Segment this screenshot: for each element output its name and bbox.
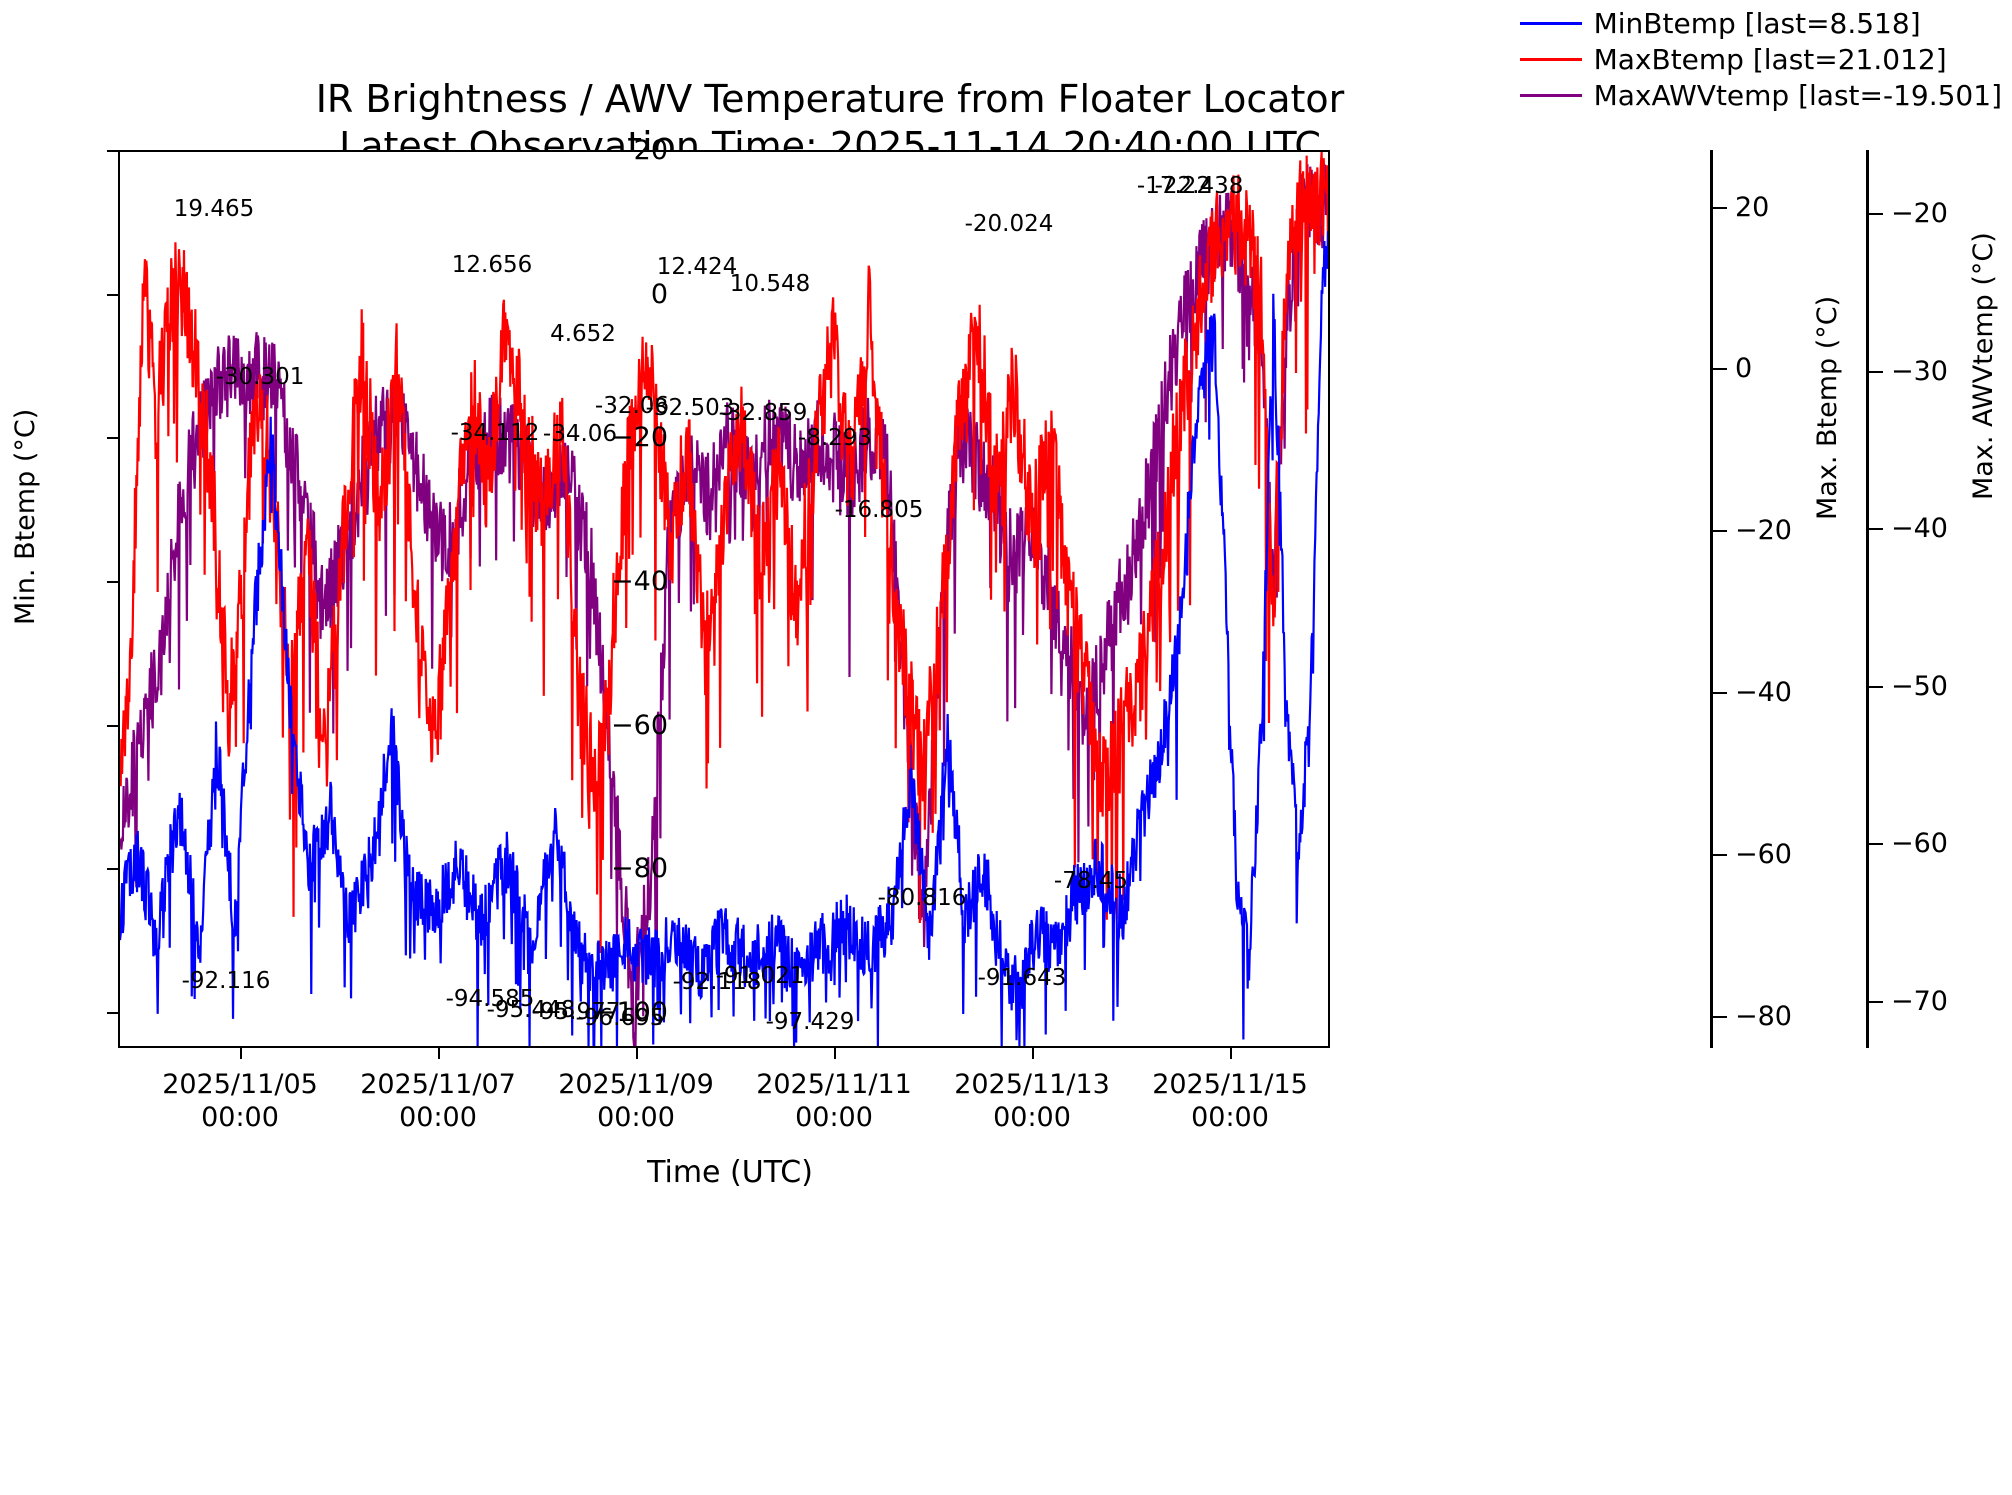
- y-axis-left-tick-mark: [107, 581, 118, 583]
- y-axis-left-tick-label: −80: [548, 853, 668, 884]
- x-axis-tick-label: 2025/11/1500:00: [1120, 1068, 1340, 1134]
- x-tick-date: 2025/11/07: [360, 1069, 516, 1100]
- data-point-annotation: -8.293: [798, 425, 872, 451]
- data-point-annotation: -32.859: [719, 400, 808, 426]
- y-axis-right-btemp-tick-label: −60: [1735, 839, 1792, 870]
- y-axis-right-awvtemp-tick-label: −60: [1891, 828, 1948, 859]
- y-axis-left-tick-label: −60: [548, 710, 668, 741]
- y-axis-left-tick-label: −40: [548, 566, 668, 597]
- x-tick-time: 00:00: [1191, 1102, 1269, 1133]
- y-axis-right-awvtemp-tick-mark: [1869, 528, 1883, 530]
- legend-label-maxbtemp: MaxBtemp [last=21.012]: [1594, 43, 1947, 76]
- y-axis-right-btemp-tick-mark: [1713, 368, 1727, 370]
- x-tick-time: 00:00: [399, 1102, 477, 1133]
- x-axis-tick-mark: [834, 1048, 836, 1059]
- y-axis-right-btemp-label: Max. Btemp (°C): [1812, 296, 1843, 520]
- y-axis-right-awvtemp-tick-mark: [1869, 371, 1883, 373]
- x-axis-tick-mark: [240, 1048, 242, 1059]
- legend-item-maxawvtemp[interactable]: MaxAWVtemp [last=-19.501]: [1520, 80, 2002, 110]
- x-axis-tick-mark: [1032, 1048, 1034, 1059]
- data-point-annotation: -34.06: [543, 421, 617, 447]
- y-axis-right-btemp-tick-mark: [1713, 692, 1727, 694]
- data-point-annotation: 4.652: [550, 321, 616, 347]
- y-axis-left-label: Min. Btemp (°C): [10, 409, 41, 625]
- data-point-annotation: 12.656: [452, 252, 532, 278]
- x-axis-tick-label: 2025/11/1300:00: [922, 1068, 1142, 1134]
- y-axis-right-btemp-tick-label: −20: [1735, 515, 1792, 546]
- plot-clip: [120, 152, 1328, 1046]
- data-point-annotation: -96.695: [576, 1005, 665, 1031]
- y-axis-right-btemp-tick-mark: [1713, 207, 1727, 209]
- x-axis-label: Time (UTC): [0, 1155, 1460, 1190]
- y-axis-left-tick-mark: [107, 725, 118, 727]
- legend-label-maxawvtemp: MaxAWVtemp [last=-19.501]: [1594, 79, 2002, 112]
- y-axis-left-tick-label: 20: [548, 135, 668, 166]
- data-point-annotation: -80.816: [878, 885, 967, 911]
- data-point-annotation: 10.548: [730, 271, 810, 297]
- y-axis-left-tick-mark: [107, 868, 118, 870]
- data-point-annotation: -16.805: [835, 497, 924, 523]
- data-point-annotation: -97.429: [766, 1009, 855, 1035]
- legend-line-swatch-maxbtemp: [1520, 58, 1582, 61]
- y-axis-right-awvtemp-tick-mark: [1869, 686, 1883, 688]
- x-tick-time: 00:00: [795, 1102, 873, 1133]
- legend-line-swatch-maxawvtemp: [1520, 94, 1582, 97]
- legend-item-minbtemp[interactable]: MinBtemp [last=8.518]: [1520, 8, 2002, 38]
- x-tick-time: 00:00: [597, 1102, 675, 1133]
- legend-line-swatch-minbtemp: [1520, 22, 1582, 25]
- y-axis-left-tick-mark: [107, 150, 118, 152]
- y-axis-right-btemp-tick-mark: [1713, 1016, 1727, 1018]
- y-axis-right-btemp-tick-label: 20: [1735, 192, 1769, 223]
- chart-title-line1: IR Brightness / AWV Temperature from Flo…: [160, 76, 1500, 123]
- y-axis-right-btemp-tick-mark: [1713, 530, 1727, 532]
- data-point-annotation: -22.438: [1155, 173, 1244, 199]
- data-point-annotation: -30.301: [216, 364, 305, 390]
- data-point-annotation: -91.643: [978, 965, 1067, 991]
- plot-area[interactable]: [118, 150, 1330, 1048]
- y-axis-right-awvtemp-tick-label: −70: [1891, 986, 1948, 1017]
- x-axis-tick-mark: [1230, 1048, 1232, 1059]
- y-axis-left-tick-label: 0: [548, 279, 668, 310]
- y-axis-right-btemp-tick-mark: [1713, 854, 1727, 856]
- legend-label-minbtemp: MinBtemp [last=8.518]: [1594, 7, 1921, 40]
- x-tick-time: 00:00: [993, 1102, 1071, 1133]
- y-axis-right-awvtemp-tick-mark: [1869, 1001, 1883, 1003]
- data-point-annotation: -78.45: [1054, 868, 1128, 894]
- y-axis-right-awvtemp-tick-label: −50: [1891, 671, 1948, 702]
- x-tick-time: 00:00: [201, 1102, 279, 1133]
- y-axis-right-awvtemp-tick-label: −20: [1891, 198, 1948, 229]
- x-tick-date: 2025/11/13: [954, 1069, 1110, 1100]
- data-point-annotation: -92.116: [182, 968, 271, 994]
- y-axis-right-awvtemp-tick-label: −40: [1891, 513, 1948, 544]
- y-axis-left-tick-mark: [107, 1012, 118, 1014]
- y-axis-left-tick-mark: [107, 437, 118, 439]
- x-axis-tick-mark: [438, 1048, 440, 1059]
- figure-canvas: MinBtemp [last=8.518] MaxBtemp [last=21.…: [0, 0, 2012, 1495]
- data-point-annotation: -91.021: [716, 963, 805, 989]
- y-axis-right-awvtemp-tick-label: −30: [1891, 356, 1948, 387]
- y-axis-right-btemp-tick-label: −80: [1735, 1001, 1792, 1032]
- x-axis-tick-label: 2025/11/1100:00: [724, 1068, 944, 1134]
- data-point-annotation: 12.424: [657, 254, 737, 280]
- x-tick-date: 2025/11/15: [1152, 1069, 1308, 1100]
- x-axis-tick-label: 2025/11/0900:00: [526, 1068, 746, 1134]
- data-point-annotation: -34.112: [451, 420, 540, 446]
- series-lines: [120, 152, 1328, 1046]
- y-axis-left-tick-mark: [107, 294, 118, 296]
- y-axis-right-awvtemp-tick-mark: [1869, 843, 1883, 845]
- data-point-annotation: -20.024: [965, 211, 1054, 237]
- chart-legend: MinBtemp [last=8.518] MaxBtemp [last=21.…: [1520, 8, 2002, 110]
- x-axis-tick-mark: [636, 1048, 638, 1059]
- y-axis-right-btemp-tick-label: −40: [1735, 677, 1792, 708]
- y-axis-right-btemp-spine: 200−20−40−60−80: [1710, 150, 1713, 1048]
- x-tick-date: 2025/11/05: [162, 1069, 318, 1100]
- y-axis-right-awvtemp-label: Max. AWVtemp (°C): [1968, 232, 1999, 500]
- x-axis-tick-label: 2025/11/0500:00: [130, 1068, 350, 1134]
- data-point-annotation: 19.465: [174, 196, 254, 222]
- x-axis-tick-label: 2025/11/0700:00: [328, 1068, 548, 1134]
- x-tick-date: 2025/11/11: [756, 1069, 912, 1100]
- y-axis-right-awvtemp-tick-mark: [1869, 213, 1883, 215]
- y-axis-right-awvtemp-spine: −20−30−40−50−60−70: [1866, 150, 1869, 1048]
- x-tick-date: 2025/11/09: [558, 1069, 714, 1100]
- y-axis-right-btemp-tick-label: 0: [1735, 353, 1752, 384]
- legend-item-maxbtemp[interactable]: MaxBtemp [last=21.012]: [1520, 44, 2002, 74]
